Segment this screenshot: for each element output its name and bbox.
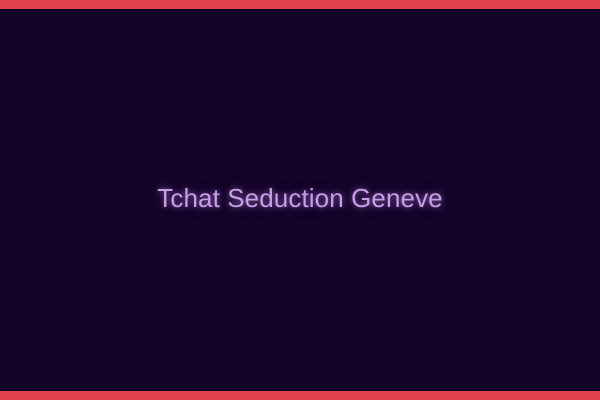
placeholder-content-area: Tchat Seduction Geneve [0, 9, 600, 391]
bottom-accent-bar [0, 391, 600, 400]
top-accent-bar [0, 0, 600, 9]
placeholder-title: Tchat Seduction Geneve [157, 185, 443, 211]
placeholder-banner: Tchat Seduction Geneve [0, 0, 600, 400]
